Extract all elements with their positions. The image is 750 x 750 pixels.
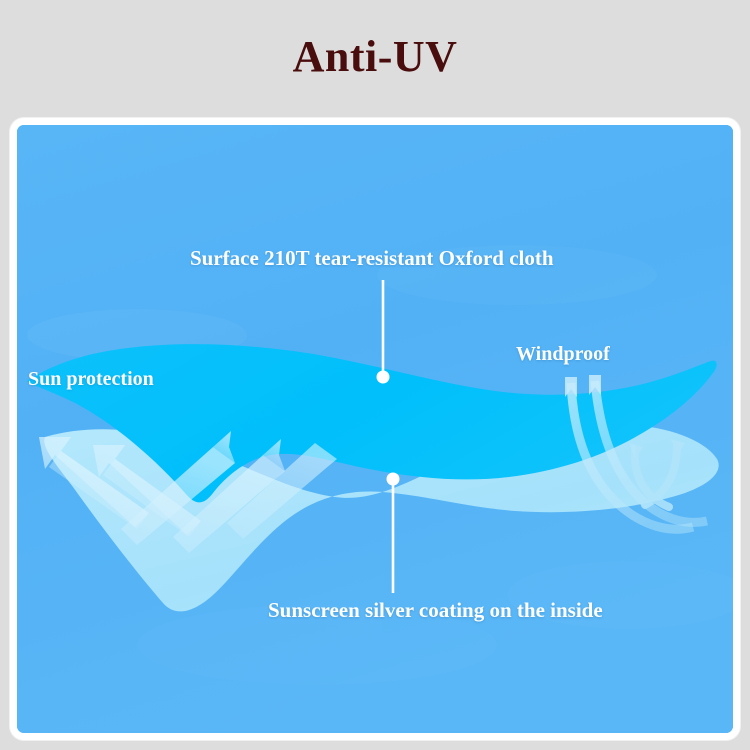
product-feature-graphic: Anti-UV	[0, 0, 750, 750]
title-bar: Anti-UV	[0, 0, 750, 118]
callout-label-windproof: Windproof	[516, 343, 610, 366]
page-title: Anti-UV	[293, 35, 458, 79]
callout-label-sun-protection: Sun protection	[28, 368, 154, 391]
illustration-panel	[10, 118, 740, 740]
callout-label-sunscreen: Sunscreen silver coating on the inside	[268, 598, 603, 623]
callout-label-surface: Surface 210T tear-resistant Oxford cloth	[190, 246, 554, 271]
fabric-cross-section-illustration	[17, 125, 733, 733]
